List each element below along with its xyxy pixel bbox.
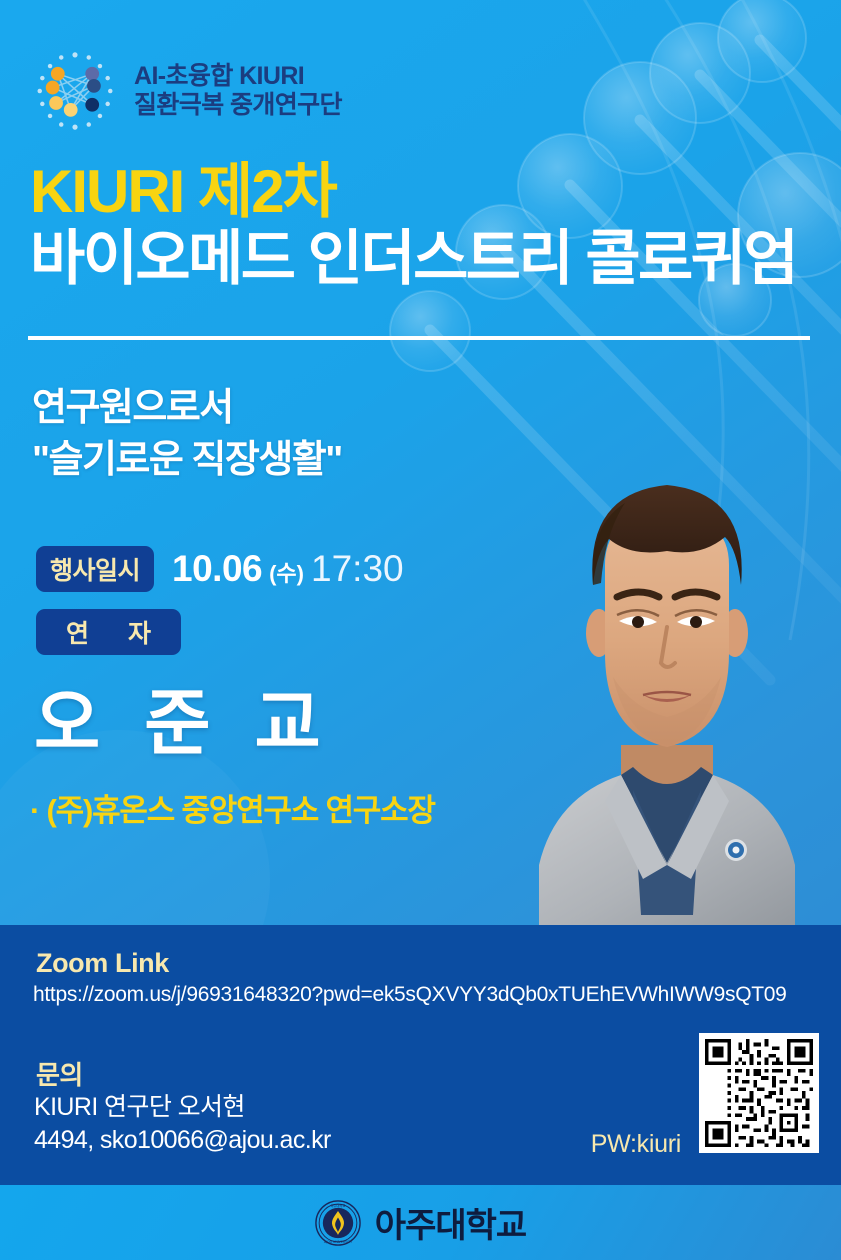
ajou-university-seal-icon: 아주대학교 AJOU UNIVERSITY bbox=[315, 1200, 361, 1246]
speaker-label-row: 연 자 bbox=[36, 609, 404, 655]
zoom-password-label: PW:kiuri bbox=[591, 1130, 681, 1159]
poster-subtitle: 연구원으로서 "슬기로운 직장생활" bbox=[32, 382, 342, 487]
event-date: 10.06 bbox=[172, 548, 262, 590]
poster-footer: 아주대학교 AJOU UNIVERSITY 아주대학교 bbox=[0, 1185, 841, 1260]
poster-bottom-section: Zoom Link https://zoom.us/j/96931648320?… bbox=[0, 925, 841, 1185]
network-nodes-icon bbox=[32, 48, 118, 134]
poster-root: AI-초융합 KIURI 질환극복 중개연구단 KIURI 제2차 바이오메드 … bbox=[0, 0, 841, 1260]
poster-headline: KIURI 제2차 바이오메드 인더스트리 콜로퀴엄 bbox=[30, 160, 796, 290]
contact-email: 4494, sko10066@ajou.ac.kr bbox=[34, 1124, 331, 1157]
brand-lockup: AI-초융합 KIURI 질환극복 중개연구단 bbox=[32, 48, 342, 134]
brand-line-2: 질환극복 중개연구단 bbox=[134, 91, 342, 121]
event-info-block: 행사일시 10.06 (수) 17:30 연 자 bbox=[36, 546, 404, 655]
date-label-badge: 행사일시 bbox=[36, 546, 154, 592]
headline-divider bbox=[28, 336, 810, 340]
speaker-label-badge: 연 자 bbox=[36, 609, 181, 655]
event-date-value: 10.06 (수) 17:30 bbox=[172, 548, 404, 590]
event-date-row: 행사일시 10.06 (수) 17:30 bbox=[36, 546, 404, 592]
speaker-affiliation: · (주)휴온스 중앙연구소 연구소장 bbox=[30, 785, 435, 830]
zoom-link-title: Zoom Link bbox=[36, 948, 169, 979]
headline-line-2: 바이오메드 인더스트리 콜로퀴엄 bbox=[30, 227, 796, 290]
brand-line-1: AI-초융합 KIURI bbox=[134, 62, 342, 92]
svg-text:아주대학교: 아주대학교 bbox=[330, 1202, 345, 1207]
university-name: 아주대학교 bbox=[375, 1198, 526, 1247]
zoom-link-url[interactable]: https://zoom.us/j/96931648320?pwd=ek5sQX… bbox=[33, 983, 787, 1007]
contact-title: 문의 bbox=[36, 1055, 83, 1092]
contact-details: KIURI 연구단 오서현 4494, sko10066@ajou.ac.kr bbox=[34, 1091, 331, 1157]
svg-text:AJOU UNIVERSITY: AJOU UNIVERSITY bbox=[324, 1239, 352, 1243]
subtitle-line-1: 연구원으로서 bbox=[32, 382, 342, 434]
speaker-portrait bbox=[493, 445, 841, 925]
contact-person: KIURI 연구단 오서현 bbox=[34, 1091, 331, 1124]
event-weekday: (수) bbox=[269, 556, 304, 588]
poster-top-section: AI-초융합 KIURI 질환극복 중개연구단 KIURI 제2차 바이오메드 … bbox=[0, 0, 841, 925]
event-time: 17:30 bbox=[311, 548, 404, 590]
subtitle-line-2: "슬기로운 직장생활" bbox=[32, 434, 342, 486]
qr-code-icon[interactable] bbox=[699, 1033, 819, 1153]
speaker-name: 오 준 교 bbox=[34, 664, 333, 769]
headline-line-1: KIURI 제2차 bbox=[30, 160, 796, 223]
